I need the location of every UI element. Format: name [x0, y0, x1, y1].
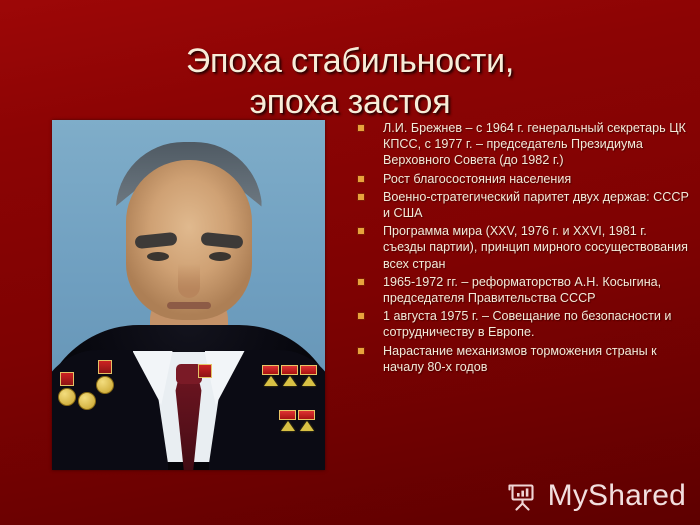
bullet-list: Л.И. Брежнев – с 1964 г. генеральный сек…	[355, 120, 691, 377]
portrait-nose	[178, 264, 200, 298]
list-item: 1 августа 1975 г. – Совещание по безопас…	[355, 308, 691, 340]
medal-ribbon-icon	[198, 364, 212, 378]
myshared-logo[interactable]: MyShared	[506, 479, 686, 513]
portrait-image-brezhnev	[52, 120, 325, 470]
portrait-mouth	[167, 302, 211, 309]
list-item: Военно-стратегический паритет двух держа…	[355, 189, 691, 221]
bullet-square-icon	[358, 176, 364, 182]
medal-ribbon-icon	[98, 360, 112, 374]
list-item-text: Л.И. Брежнев – с 1964 г. генеральный сек…	[383, 120, 691, 169]
portrait-eye-left	[147, 252, 169, 261]
list-item-text: Нарастание механизмов торможения страны …	[383, 343, 691, 375]
list-item: 1965-1972 гг. – реформаторство А.Н. Косы…	[355, 274, 691, 306]
list-item: Программа мира (XXV, 1976 г. и XXVI, 198…	[355, 223, 691, 272]
list-item: Нарастание механизмов торможения страны …	[355, 343, 691, 375]
list-item-text: Программа мира (XXV, 1976 г. и XXVI, 198…	[383, 223, 691, 272]
portrait-eye-right	[209, 252, 231, 261]
bullet-square-icon	[358, 194, 364, 200]
bullet-square-icon	[358, 228, 364, 234]
list-item: Рост благосостояния населения	[355, 171, 691, 187]
bullet-square-icon	[358, 125, 364, 131]
medal-ribbon-icon	[60, 372, 74, 386]
portrait-frame	[52, 120, 325, 470]
presentation-easel-chart-icon	[506, 479, 540, 513]
medal-order-icon	[96, 376, 114, 394]
myshared-logo-text: MyShared	[548, 479, 686, 513]
list-item-text: 1 августа 1975 г. – Совещание по безопас…	[383, 308, 691, 340]
medal-group-hero-stars	[262, 365, 317, 386]
bullet-square-icon	[358, 348, 364, 354]
list-item-text: Военно-стратегический паритет двух держа…	[383, 189, 691, 221]
bullet-square-icon	[358, 313, 364, 319]
medal-order-icon	[78, 392, 96, 410]
medal-group-hero-stars-second-row	[279, 410, 315, 431]
medal-order-icon	[58, 388, 76, 406]
presentation-slide: Эпоха стабильности, эпоха застоя	[0, 0, 700, 525]
slide-title: Эпоха стабильности, эпоха застоя	[60, 41, 640, 123]
list-item-text: 1965-1972 гг. – реформаторство А.Н. Косы…	[383, 274, 691, 306]
list-item: Л.И. Брежнев – с 1964 г. генеральный сек…	[355, 120, 691, 169]
list-item-text: Рост благосостояния населения	[383, 171, 691, 187]
bullet-square-icon	[358, 279, 364, 285]
